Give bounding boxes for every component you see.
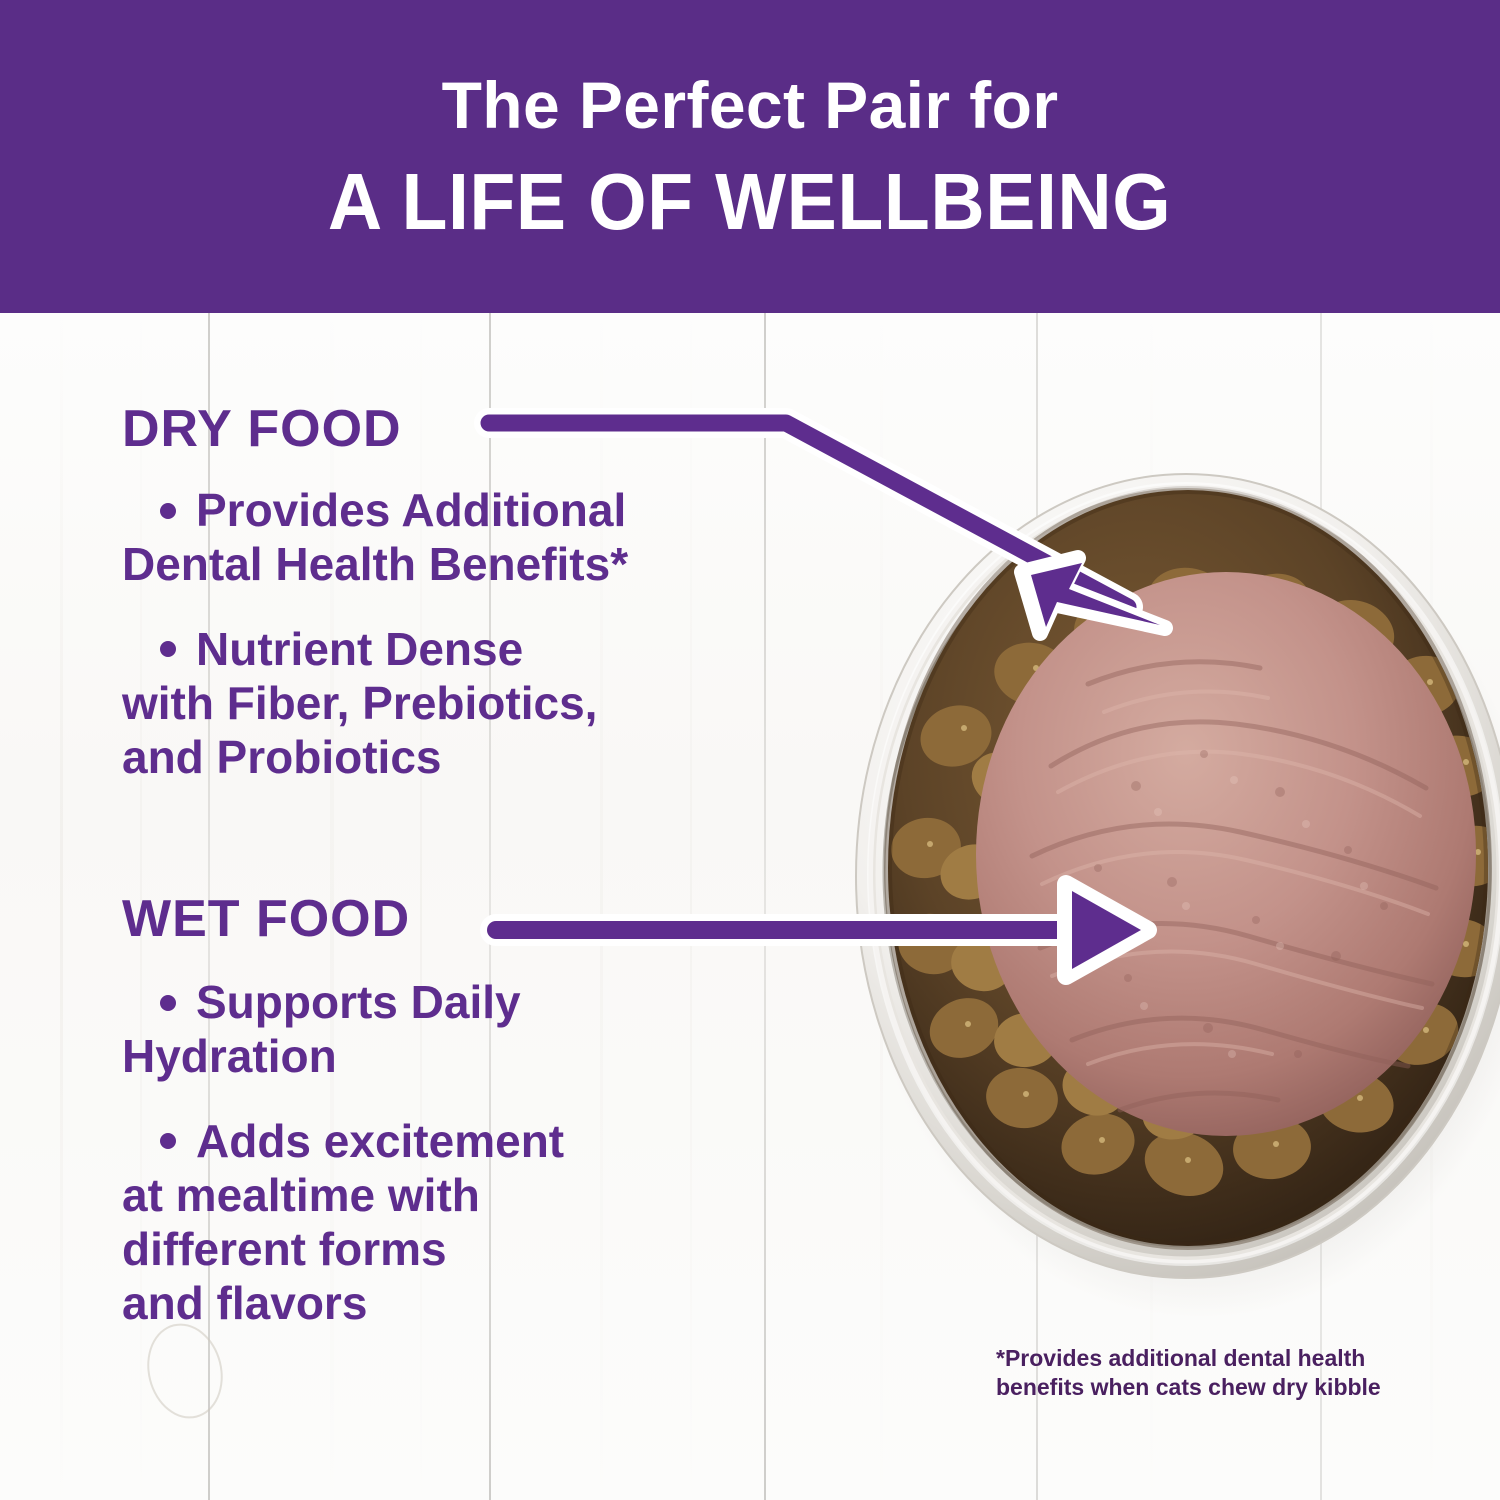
marketing-infographic: The Perfect Pair for A LIFE OF WELLBEING: [0, 0, 1500, 1500]
bullet-line: Adds excitement: [196, 1115, 564, 1167]
header-banner: The Perfect Pair for A LIFE OF WELLBEING: [0, 0, 1500, 313]
bullet-line: Supports Daily: [196, 976, 521, 1028]
footnote-line-2: benefits when cats chew dry kibble: [996, 1373, 1426, 1402]
bullet-dot-icon: [160, 503, 176, 519]
food-bowl-photo: [836, 436, 1500, 1326]
wood-grain: [60, 313, 63, 1500]
footnote-line-1: *Provides additional dental health: [996, 1344, 1426, 1373]
bullet-line: Provides Additional: [196, 484, 626, 536]
footnote-disclaimer: *Provides additional dental health benef…: [996, 1344, 1426, 1403]
dry-food-section-header: DRY FOOD: [122, 403, 402, 455]
bullet-dot-icon: [160, 1133, 176, 1149]
bullet-dot-icon: [160, 641, 176, 657]
bullet-line: and Probiotics: [122, 731, 441, 783]
list-item: Supports Daily Hydration: [122, 975, 722, 1084]
wet-food-bullets: Supports Daily Hydration Adds excitement…: [122, 975, 722, 1361]
bullet-line: Nutrient Dense: [196, 623, 523, 675]
wet-food-heading: WET FOOD: [122, 893, 410, 945]
header-line-1: The Perfect Pair for: [442, 72, 1059, 138]
wet-pate: [976, 572, 1476, 1136]
header-line-2: A LIFE OF WELLBEING: [328, 162, 1171, 242]
bullet-line: Dental Health Benefits*: [122, 538, 628, 590]
bullet-line: at mealtime with: [122, 1169, 480, 1221]
bowl-illustration: [836, 436, 1500, 1316]
bullet-line: and flavors: [122, 1277, 367, 1329]
bullet-dot-icon: [160, 995, 176, 1011]
bullet-line: with Fiber, Prebiotics,: [122, 677, 597, 729]
list-item: Adds excitement at mealtime with differe…: [122, 1114, 722, 1331]
bullet-line: Hydration: [122, 1030, 337, 1082]
dry-food-bullets: Provides Additional Dental Health Benefi…: [122, 483, 812, 814]
list-item: Nutrient Dense with Fiber, Prebiotics, a…: [122, 622, 812, 785]
wet-food-section-header: WET FOOD: [122, 893, 410, 945]
list-item: Provides Additional Dental Health Benefi…: [122, 483, 812, 592]
bullet-line: different forms: [122, 1223, 447, 1275]
dry-food-heading: DRY FOOD: [122, 403, 402, 455]
